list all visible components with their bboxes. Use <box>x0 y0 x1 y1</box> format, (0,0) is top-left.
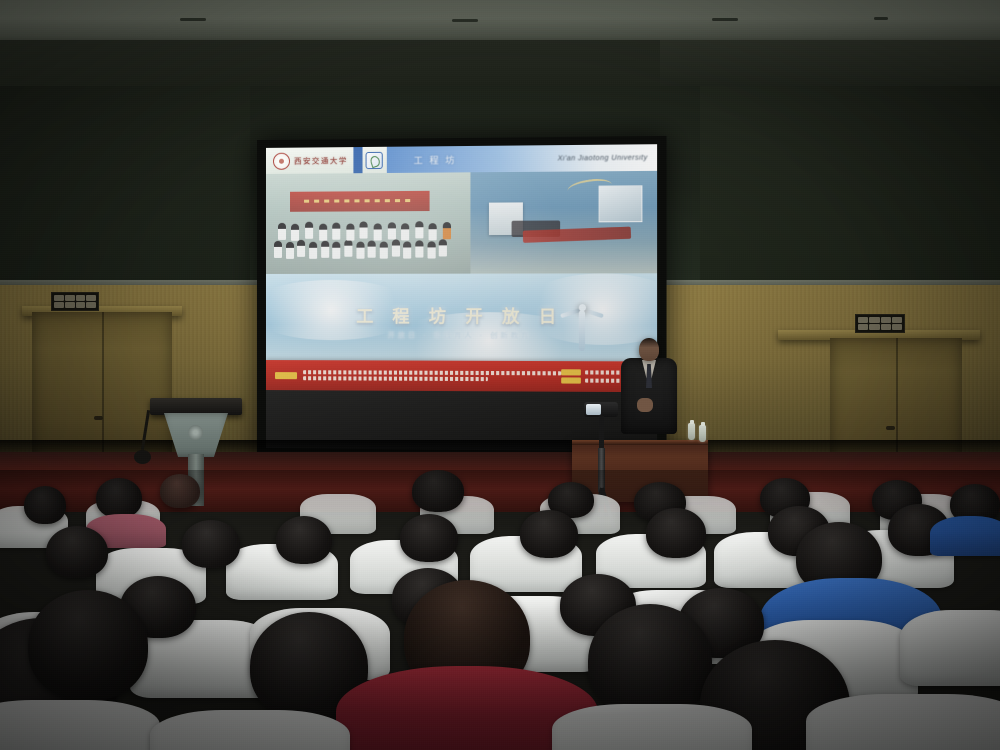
audience-head <box>276 516 332 564</box>
door-handle-icon[interactable] <box>886 426 895 430</box>
slide-header-bar: 西安交通大学 工 程 坊 Xi'an Jiaotong University <box>266 144 657 174</box>
camcorder-lcd-screen <box>586 404 601 415</box>
audience-head <box>182 520 240 568</box>
audience-head <box>412 470 464 512</box>
audience-head-foreground <box>588 604 712 718</box>
water-bottle-icon <box>688 423 695 440</box>
university-seal-icon <box>273 152 290 169</box>
photo-workshop-hall <box>471 171 657 274</box>
camcorder-icon <box>584 402 618 417</box>
slide-photo-strip <box>266 171 657 274</box>
audience-head <box>46 526 108 578</box>
header-gradient-band: 工 程 坊 Xi'an Jiaotong University <box>387 144 657 173</box>
photo-group-shot <box>266 172 471 274</box>
audience-area <box>0 470 1000 750</box>
wall-vent-icon-left <box>51 292 99 311</box>
photo-stage-banner <box>290 191 429 212</box>
lectern-emblem-icon <box>188 425 203 440</box>
slide-sky-background: 工 程 坊 开 放 日 开放日 · 实践育人 · 创新教育 <box>266 273 657 367</box>
water-bottle-icon <box>699 425 706 442</box>
slide-footer-banner <box>266 360 657 392</box>
ceiling-light-icon <box>874 17 888 20</box>
audience-head-foreground <box>28 590 148 700</box>
door-handle-icon[interactable] <box>94 416 103 420</box>
audience-head <box>520 510 578 558</box>
statue-body <box>579 310 585 351</box>
ceiling-light-icon <box>452 19 478 22</box>
workshop-name-cn: 工 程 坊 <box>414 153 457 167</box>
upper-wall-right <box>700 86 1000 286</box>
audience-head <box>160 474 200 508</box>
audience-blue-jacket-far <box>930 516 1000 556</box>
header-blue-divider <box>354 147 363 173</box>
ceiling-light-icon <box>180 18 206 21</box>
presenter-head <box>639 338 659 361</box>
statue-arm-left <box>560 308 580 317</box>
workshop-logo-icon <box>366 151 383 168</box>
upper-wall-left <box>0 86 250 286</box>
statue-arm-right <box>584 308 604 317</box>
audience-head <box>646 508 706 558</box>
statue-icon <box>561 296 603 355</box>
audience-head <box>24 486 66 524</box>
chair-back-front <box>552 704 752 750</box>
chair-back-front <box>806 694 1000 750</box>
tripod-head <box>599 416 604 450</box>
footer-text-block <box>303 367 561 384</box>
university-name-cn: 西安交通大学 <box>294 155 348 167</box>
chair-back-front <box>0 700 160 750</box>
footer-line-1 <box>303 370 561 375</box>
photograph-scene: 西安交通大学 工 程 坊 Xi'an Jiaotong University <box>0 0 1000 750</box>
chair-back-front <box>150 710 350 750</box>
microphone-head-icon <box>134 450 151 464</box>
audience-head <box>400 514 458 562</box>
audience-head <box>96 478 142 518</box>
wall-vent-icon-right <box>855 314 905 333</box>
photo-wall-screen <box>599 185 642 222</box>
chair-back <box>900 610 1000 686</box>
footer-tag-icon <box>275 372 297 379</box>
university-name-en: Xi'an Jiaotong University <box>558 154 648 162</box>
lectern-top <box>150 398 242 415</box>
footer-line-2 <box>303 376 488 381</box>
ceiling-light-icon <box>712 18 738 21</box>
photo-people-rows <box>270 215 467 272</box>
